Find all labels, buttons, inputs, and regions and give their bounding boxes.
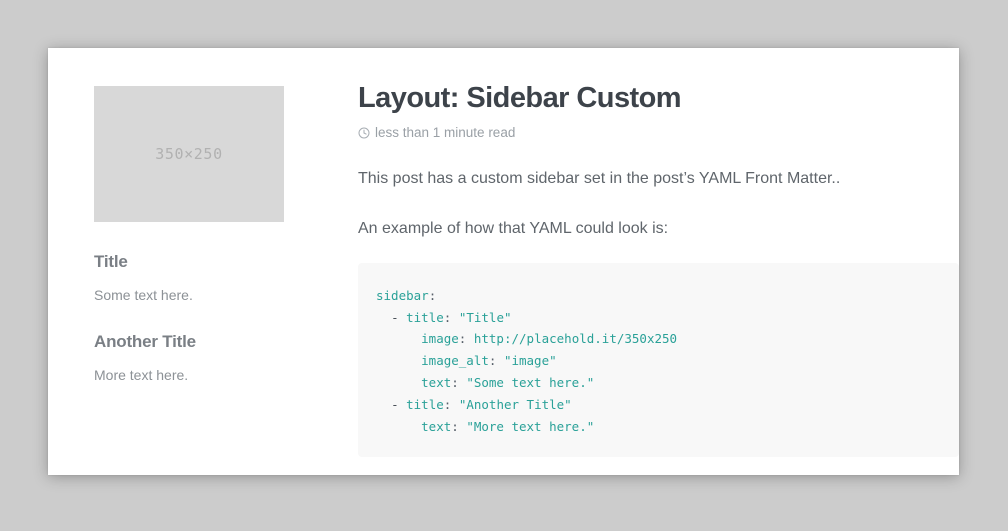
read-time-label: less than 1 minute read [375, 126, 515, 140]
post-sidebar: 350×250 Title Some text here. Another Ti… [94, 86, 306, 386]
sidebar-block-text: Some text here. [94, 286, 306, 306]
post-meta: less than 1 minute read [358, 126, 959, 140]
post-card: 350×250 Title Some text here. Another Ti… [48, 48, 959, 475]
card-inner: 350×250 Title Some text here. Another Ti… [48, 48, 959, 475]
post-paragraph-2: An example of how that YAML could look i… [358, 217, 959, 241]
yaml-code-text: sidebar: - title: "Title" image: http://… [376, 285, 959, 438]
sidebar-block-title: Title [94, 252, 306, 272]
post-paragraph-1: This post has a custom sidebar set in th… [358, 167, 959, 191]
sidebar-block-1: Title Some text here. [94, 252, 306, 306]
sidebar-image-placeholder: 350×250 [94, 86, 284, 222]
sidebar-block-title: Another Title [94, 332, 306, 352]
yaml-code-block: sidebar: - title: "Title" image: http://… [358, 263, 959, 458]
clock-icon [358, 127, 370, 139]
sidebar-image-placeholder-label: 350×250 [155, 145, 222, 163]
sidebar-block-text: More text here. [94, 366, 306, 386]
post-content: Layout: Sidebar Custom less than 1 minut… [358, 82, 959, 475]
page-title: Layout: Sidebar Custom [358, 82, 959, 115]
sidebar-block-2: Another Title More text here. [94, 332, 306, 386]
